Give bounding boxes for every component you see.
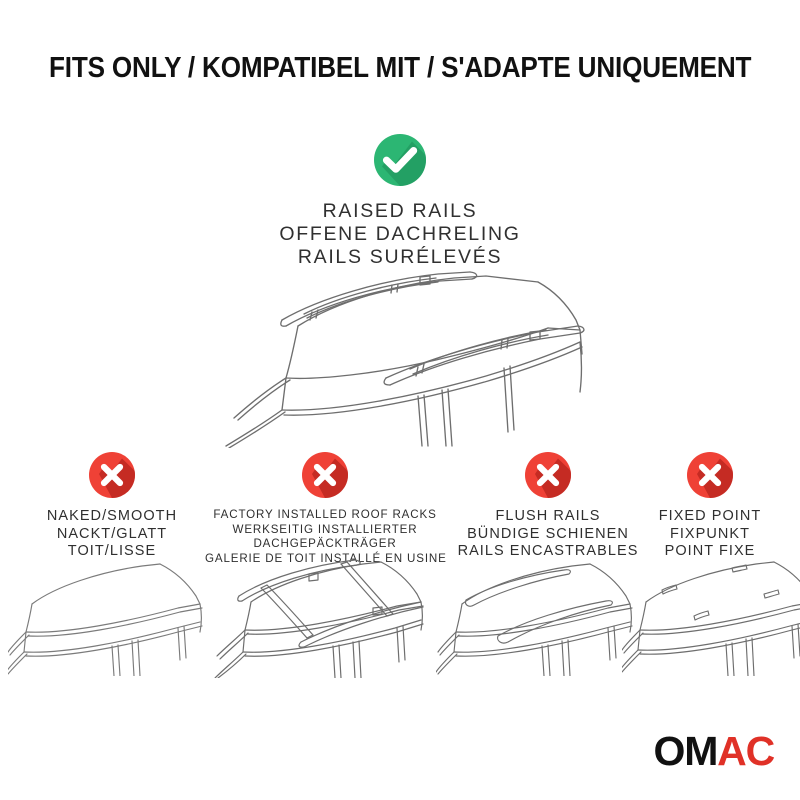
compatible-label-fr: RAILS SURÉLEVÉS — [0, 246, 800, 269]
label-de: BÜNDIGE SCHIENEN — [448, 526, 648, 544]
label-en: NAKED/SMOOTH — [12, 508, 212, 526]
incompatible-item-flush-rails: FLUSH RAILS BÜNDIGE SCHIENEN RAILS ENCAS… — [448, 452, 648, 561]
vehicle-roof-bare-illustration — [8, 556, 208, 676]
vehicle-roof-with-factory-crossbars-illustration — [213, 546, 443, 678]
label-en: FACTORY INSTALLED ROOF RACKS — [205, 508, 445, 523]
compatible-section: RAISED RAILS OFFENE DACHRELING RAILS SUR… — [0, 134, 800, 269]
page-title: FITS ONLY / KOMPATIBEL MIT / S'ADAPTE UN… — [49, 52, 751, 85]
incompatible-item-fixed-point: FIXED POINT FIXPUNKT POINT FIXE — [635, 452, 785, 561]
check-circle-icon — [374, 134, 426, 186]
omac-logo: OMAC — [654, 731, 774, 772]
label-de: NACKT/GLATT — [12, 526, 212, 544]
vehicle-roof-with-flush-rails-illustration — [436, 556, 638, 676]
logo-text-red: AC — [717, 728, 774, 774]
incompatible-labels-naked-smooth: NAKED/SMOOTH NACKT/GLATT TOIT/LISSE — [12, 508, 212, 561]
label-en: FIXED POINT — [635, 508, 785, 526]
x-circle-icon — [302, 452, 348, 498]
label-de: FIXPUNKT — [635, 526, 785, 544]
incompatible-labels-flush-rails: FLUSH RAILS BÜNDIGE SCHIENEN RAILS ENCAS… — [448, 508, 648, 561]
header: FITS ONLY / KOMPATIBEL MIT / S'ADAPTE UN… — [0, 52, 800, 85]
x-circle-icon — [525, 452, 571, 498]
label-en: FLUSH RAILS — [448, 508, 648, 526]
compatible-label-de: OFFENE DACHRELING — [0, 223, 800, 246]
incompatible-item-naked-smooth: NAKED/SMOOTH NACKT/GLATT TOIT/LISSE — [12, 452, 212, 561]
x-circle-icon — [687, 452, 733, 498]
x-circle-icon — [89, 452, 135, 498]
logo-text-black: OM — [654, 728, 718, 774]
label-de-1: WERKSEITIG INSTALLIERTER — [205, 523, 445, 538]
vehicle-roof-with-fixed-points-illustration — [622, 556, 800, 676]
compatible-labels: RAISED RAILS OFFENE DACHRELING RAILS SUR… — [0, 200, 800, 269]
compatible-label-en: RAISED RAILS — [0, 200, 800, 223]
vehicle-roof-with-raised-rails-illustration — [186, 268, 616, 448]
incompatible-labels-fixed-point: FIXED POINT FIXPUNKT POINT FIXE — [635, 508, 785, 561]
